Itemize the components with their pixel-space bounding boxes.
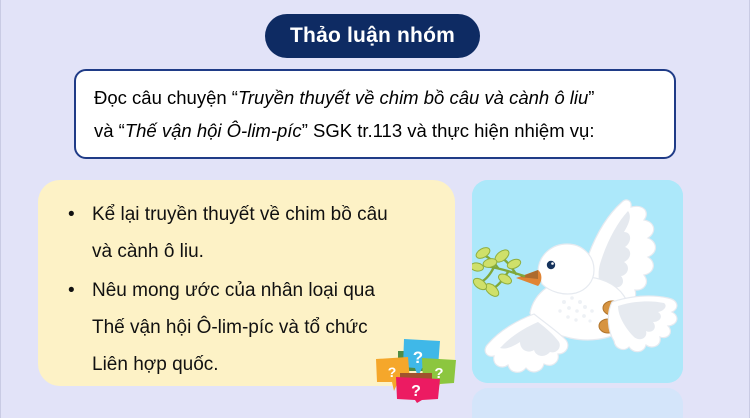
ghost-panel [472, 388, 683, 418]
instruction-box: Đọc câu chuyện “Truyền thuyết về chim bồ… [74, 69, 676, 159]
task-2-line-1: Nêu mong ước của nhân loại qua [92, 272, 441, 309]
task-1-line-2: và cành ô liu. [92, 233, 441, 270]
slide-title-pill: Thảo luận nhóm [265, 14, 480, 58]
list-item: • Kể lại truyền thuyết về chim bồ câu và… [60, 196, 441, 270]
instruction-line2-prefix: và “ [94, 120, 125, 141]
task-1-line-1: Kể lại truyền thuyết về chim bồ câu [92, 196, 441, 233]
slide-title-text: Thảo luận nhóm [290, 24, 455, 48]
question-speech-bubbles-icon: ? ? ? ? [374, 337, 458, 403]
svg-text:?: ? [411, 383, 421, 400]
instruction-line-1: Đọc câu chuyện “Truyền thuyết về chim bồ… [94, 81, 656, 114]
instruction-line1-title: Truyền thuyết về chim bồ câu và cành ô l… [238, 87, 588, 108]
bullet-icon: • [68, 196, 75, 233]
svg-text:?: ? [413, 348, 423, 367]
slide-canvas: Thảo luận nhóm Đọc câu chuyện “Truyền th… [0, 0, 750, 418]
instruction-line1-suffix: ” [588, 87, 594, 108]
left-edge-line [0, 0, 1, 418]
instruction-line2-suffix: ” SGK tr.113 và thực hiện nhiệm vụ: [302, 120, 595, 141]
svg-text:?: ? [388, 364, 397, 380]
dove-picture-panel [472, 180, 683, 383]
instruction-line-2: và “Thế vận hội Ô-lim-píc” SGK tr.113 và… [94, 114, 656, 147]
bullet-icon: • [68, 272, 75, 309]
dove-with-olive-branch-icon [472, 180, 683, 383]
instruction-line2-title: Thế vận hội Ô-lim-píc [125, 120, 302, 141]
instruction-line1-prefix: Đọc câu chuyện “ [94, 87, 238, 108]
